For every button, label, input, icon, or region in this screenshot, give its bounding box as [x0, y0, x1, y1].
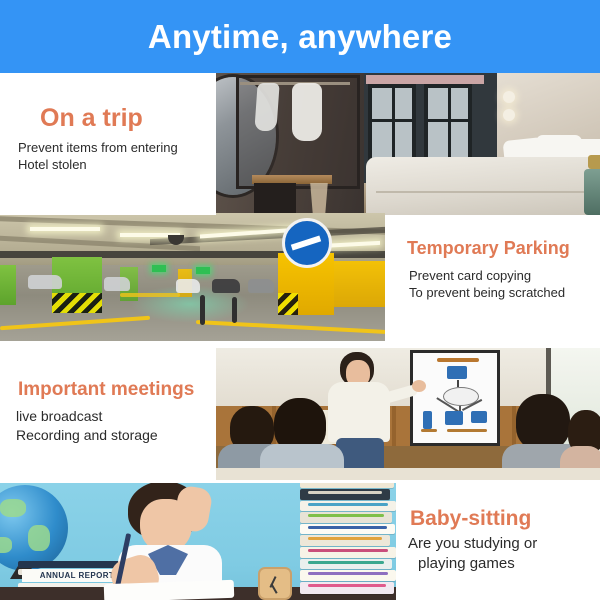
- section-line-baby-sitting-1: Are you studying or: [408, 534, 600, 554]
- garage-bollard: [200, 295, 205, 325]
- garage-hazard-stripes: [278, 293, 298, 315]
- hotel-bathrobe-right: [292, 83, 322, 141]
- poster-header: Anytime, anywhere: [0, 0, 600, 73]
- book: [300, 570, 396, 581]
- hotel-curtain-valance: [366, 75, 484, 84]
- attendee-head: [516, 394, 570, 450]
- book: [300, 501, 396, 511]
- parked-car: [248, 279, 274, 293]
- garage-lane-marking: [120, 293, 180, 297]
- no-entry-sign-icon: [282, 218, 332, 268]
- hotel-window-right: [424, 84, 472, 166]
- hotel-wall-lamp-lower: [503, 109, 515, 121]
- book: [300, 524, 395, 534]
- whiteboard-label: [447, 429, 487, 432]
- globe-landmass: [28, 525, 50, 551]
- book: [300, 512, 392, 523]
- garage-bollard: [232, 297, 237, 323]
- parked-car: [212, 279, 240, 293]
- hotel-wall-lamp-upper: [503, 91, 515, 103]
- hotel-table-lamp: [588, 155, 600, 169]
- section-line-temporary-parking-2: To prevent being scratched: [409, 284, 600, 301]
- book-spine-stripe: [308, 526, 387, 529]
- globe-landmass: [0, 537, 12, 553]
- meeting-table: [216, 468, 600, 480]
- section-panel-baby-sitting: Baby-sitting Are you studying or playing…: [396, 483, 600, 600]
- globe-landmass: [0, 499, 26, 517]
- section-title-important-meetings: Important meetings: [18, 380, 216, 401]
- annual-report-label: ANNUAL REPORT: [40, 571, 114, 580]
- book-spine-stripe: [308, 584, 386, 587]
- whiteboard-laptop-diagram: [447, 366, 467, 379]
- garage-wall-yellow: [334, 261, 385, 307]
- book: [300, 483, 394, 488]
- window-mullion-horizontal: [428, 119, 468, 122]
- book-spine-stripe: [308, 491, 382, 494]
- hotel-bathrobe-left: [254, 83, 279, 131]
- section-panel-on-a-trip: On a trip Prevent items from entering Ho…: [0, 73, 216, 215]
- section-line-baby-sitting-2: playing games: [418, 554, 600, 574]
- section-title-temporary-parking: Temporary Parking: [407, 239, 600, 259]
- whiteboard-server-diagram: [423, 411, 432, 429]
- hotel-desk-body: [254, 183, 296, 215]
- section-line-temporary-parking-1: Prevent card copying: [409, 267, 600, 284]
- hotel-bed-sheet-line: [376, 191, 600, 193]
- whiteboard-label: [421, 429, 437, 432]
- book-spine-stripe: [308, 537, 382, 540]
- garage-pillar-green-far: [0, 265, 16, 305]
- parked-car: [104, 277, 130, 291]
- parking-garage-photo: [0, 213, 385, 341]
- parked-car: [28, 275, 62, 289]
- window-mullion-vertical: [448, 88, 451, 162]
- section-line-important-meetings-1: live broadcast: [16, 407, 216, 426]
- child-studying-photo: ANNUAL REPORT: [0, 483, 396, 600]
- window-mullion-vertical: [392, 88, 395, 162]
- book-spine-stripe: [308, 503, 388, 506]
- whiteboard-laptop-diagram: [471, 411, 487, 423]
- garage-ceiling-light: [30, 227, 100, 231]
- presenter-blouse: [328, 382, 390, 442]
- book-spine-stripe: [308, 572, 388, 575]
- promo-poster: Anytime, anywhere: [0, 0, 600, 600]
- book: [300, 547, 396, 558]
- window-mullion-horizontal: [372, 119, 412, 122]
- desk-clock-icon: [258, 567, 292, 600]
- hotel-room-photo: [216, 73, 600, 215]
- section-line-on-a-trip-1: Prevent items from entering: [18, 139, 216, 156]
- garage-exit-sign: [152, 265, 166, 272]
- hotel-nightstand: [584, 169, 600, 215]
- section-line-important-meetings-2: Recording and storage: [16, 426, 216, 445]
- whiteboard: [410, 350, 500, 446]
- garage-exit-sign: [196, 267, 210, 274]
- section-panel-temporary-parking: Temporary Parking Prevent card copying T…: [385, 215, 600, 341]
- whiteboard-arrow: [457, 380, 459, 387]
- tall-book-stack: [300, 483, 396, 600]
- whiteboard-pc-diagram: [445, 411, 463, 425]
- presenter-hand: [412, 380, 426, 392]
- whiteboard-title-scribble: [437, 358, 479, 362]
- book: [300, 559, 392, 569]
- book-spine-stripe: [308, 561, 384, 564]
- meeting-room-photo: [216, 348, 600, 480]
- book: [300, 582, 394, 594]
- hotel-window-left: [368, 84, 416, 166]
- page-title: Anytime, anywhere: [148, 20, 452, 53]
- hotel-bed: [366, 157, 600, 215]
- book-spine-stripe: [308, 514, 384, 517]
- open-notebook: [104, 580, 235, 600]
- section-line-on-a-trip-2: Hotel stolen: [18, 156, 216, 173]
- section-panel-important-meetings: Important meetings live broadcast Record…: [0, 341, 216, 483]
- section-title-baby-sitting: Baby-sitting: [410, 507, 600, 530]
- parked-car: [176, 279, 200, 293]
- section-title-on-a-trip: On a trip: [40, 105, 216, 133]
- book: [300, 489, 390, 500]
- book: [300, 535, 390, 546]
- garage-hazard-stripes: [52, 293, 102, 313]
- book-spine-stripe: [308, 549, 388, 552]
